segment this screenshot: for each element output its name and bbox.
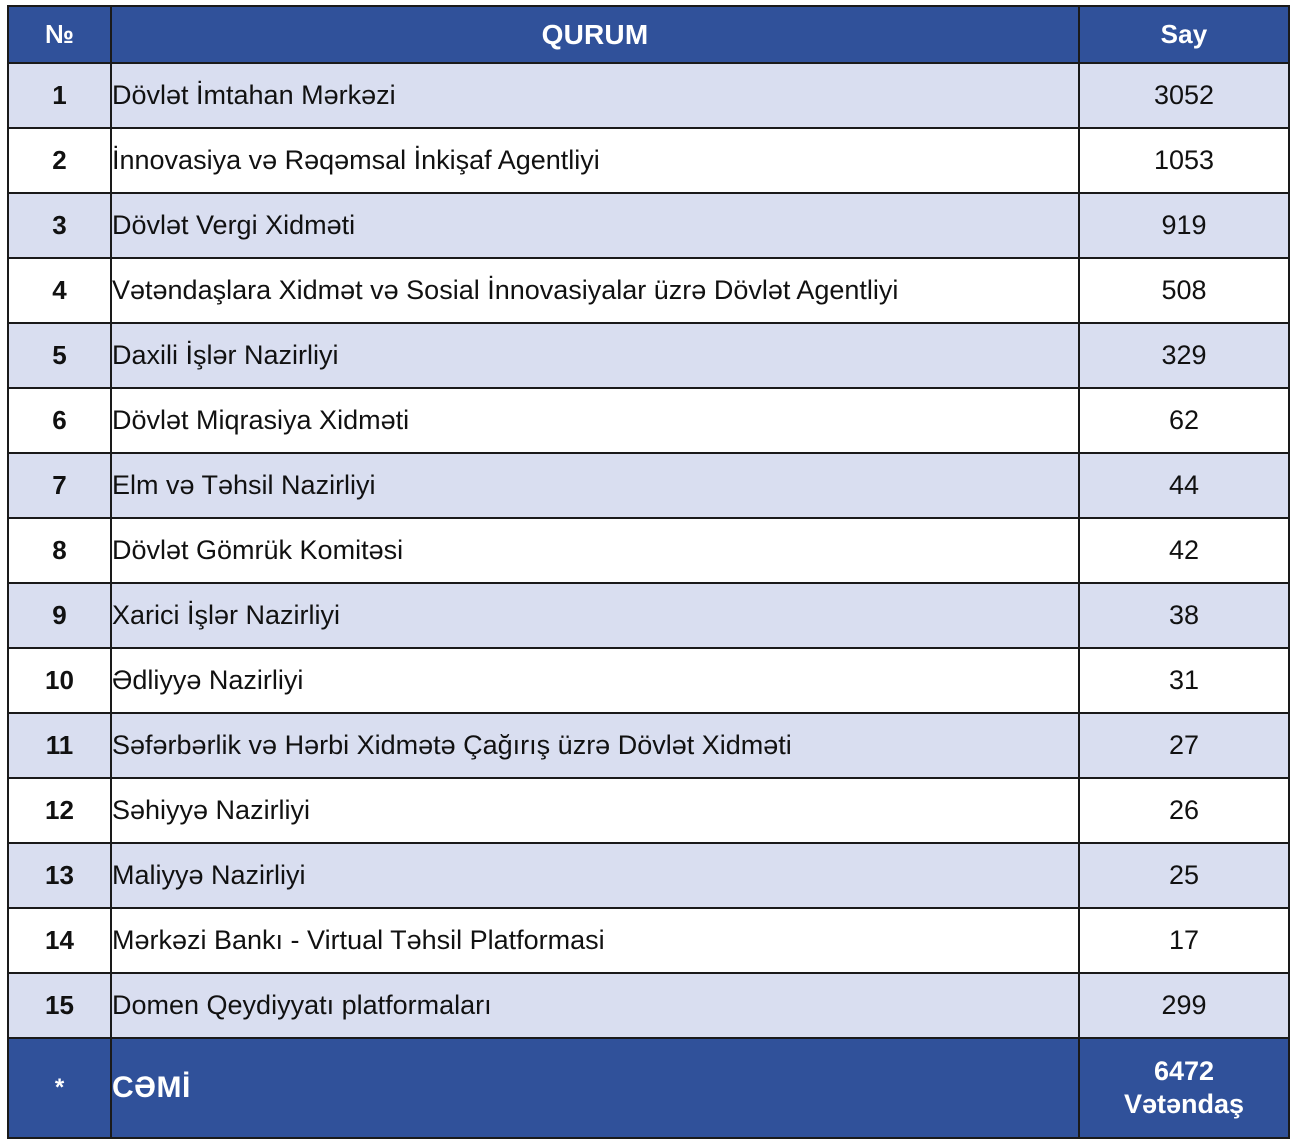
cell-institution-name: Səfərbərlik və Hərbi Xidmətə Çağırış üzr… [111, 713, 1079, 778]
cell-row-number: 12 [8, 778, 111, 843]
cell-count: 62 [1079, 388, 1289, 453]
total-value-number: 6472 [1080, 1055, 1288, 1088]
cell-row-number: 1 [8, 63, 111, 128]
cell-count: 3052 [1079, 63, 1289, 128]
cell-institution-name: Dövlət Miqrasiya Xidməti [111, 388, 1079, 453]
table-row: 12Səhiyyə Nazirliyi26 [8, 778, 1289, 843]
table-screenshot-root: № QURUM Say 1Dövlət İmtahan Mərkəzi30522… [0, 0, 1300, 1143]
cell-count: 38 [1079, 583, 1289, 648]
table-row: 6Dövlət Miqrasiya Xidməti62 [8, 388, 1289, 453]
cell-count: 27 [1079, 713, 1289, 778]
cell-institution-name: Ədliyyə Nazirliyi [111, 648, 1079, 713]
cell-count: 31 [1079, 648, 1289, 713]
cell-count: 17 [1079, 908, 1289, 973]
cell-count: 25 [1079, 843, 1289, 908]
cell-row-number: 4 [8, 258, 111, 323]
cell-institution-name: Domen Qeydiyyatı platformaları [111, 973, 1079, 1038]
table-header: № QURUM Say [8, 6, 1289, 63]
cell-row-number: 3 [8, 193, 111, 258]
cell-institution-name: Dövlət Vergi Xidməti [111, 193, 1079, 258]
table-row: 2İnnovasiya və Rəqəmsal İnkişaf Agentliy… [8, 128, 1289, 193]
table-row: 9Xarici İşlər Nazirliyi38 [8, 583, 1289, 648]
cell-row-number: 13 [8, 843, 111, 908]
table-row: 11Səfərbərlik və Hərbi Xidmətə Çağırış ü… [8, 713, 1289, 778]
cell-institution-name: Dövlət İmtahan Mərkəzi [111, 63, 1079, 128]
total-value-unit: Vətəndaş [1080, 1088, 1288, 1121]
cell-institution-name: Dövlət Gömrük Komitəsi [111, 518, 1079, 583]
cell-count: 44 [1079, 453, 1289, 518]
table-row: 3Dövlət Vergi Xidməti919 [8, 193, 1289, 258]
header-row: № QURUM Say [8, 6, 1289, 63]
total-label: CƏMİ [111, 1038, 1079, 1138]
institutions-table: № QURUM Say 1Dövlət İmtahan Mərkəzi30522… [7, 5, 1290, 1139]
table-row: 1Dövlət İmtahan Mərkəzi3052 [8, 63, 1289, 128]
cell-row-number: 11 [8, 713, 111, 778]
table-row: 8Dövlət Gömrük Komitəsi42 [8, 518, 1289, 583]
table-row: 10Ədliyyə Nazirliyi31 [8, 648, 1289, 713]
table-row: 15Domen Qeydiyyatı platformaları299 [8, 973, 1289, 1038]
cell-row-number: 8 [8, 518, 111, 583]
cell-count: 919 [1079, 193, 1289, 258]
cell-row-number: 9 [8, 583, 111, 648]
cell-count: 1053 [1079, 128, 1289, 193]
cell-institution-name: Maliyyə Nazirliyi [111, 843, 1079, 908]
cell-row-number: 7 [8, 453, 111, 518]
cell-row-number: 14 [8, 908, 111, 973]
cell-institution-name: Vətəndaşlara Xidmət və Sosial İnnovasiya… [111, 258, 1079, 323]
table-row: 5Daxili İşlər Nazirliyi329 [8, 323, 1289, 388]
total-row: * CƏMİ 6472 Vətəndaş [8, 1038, 1289, 1138]
cell-count: 508 [1079, 258, 1289, 323]
column-header-qurum: QURUM [111, 6, 1079, 63]
table-row: 4Vətəndaşlara Xidmət və Sosial İnnovasiy… [8, 258, 1289, 323]
cell-count: 42 [1079, 518, 1289, 583]
table-body: 1Dövlət İmtahan Mərkəzi30522İnnovasiya v… [8, 63, 1289, 1038]
column-header-say: Say [1079, 6, 1289, 63]
cell-institution-name: Mərkəzi Bankı - Virtual Təhsil Platforma… [111, 908, 1079, 973]
cell-row-number: 15 [8, 973, 111, 1038]
cell-row-number: 10 [8, 648, 111, 713]
cell-institution-name: Xarici İşlər Nazirliyi [111, 583, 1079, 648]
cell-row-number: 6 [8, 388, 111, 453]
cell-count: 299 [1079, 973, 1289, 1038]
cell-institution-name: Daxili İşlər Nazirliyi [111, 323, 1079, 388]
cell-institution-name: Səhiyyə Nazirliyi [111, 778, 1079, 843]
cell-institution-name: İnnovasiya və Rəqəmsal İnkişaf Agentliyi [111, 128, 1079, 193]
cell-count: 26 [1079, 778, 1289, 843]
table-row: 14Mərkəzi Bankı - Virtual Təhsil Platfor… [8, 908, 1289, 973]
table-row: 7Elm və Təhsil Nazirliyi44 [8, 453, 1289, 518]
total-value: 6472 Vətəndaş [1079, 1038, 1289, 1138]
cell-row-number: 2 [8, 128, 111, 193]
cell-count: 329 [1079, 323, 1289, 388]
table-footer: * CƏMİ 6472 Vətəndaş [8, 1038, 1289, 1138]
cell-institution-name: Elm və Təhsil Nazirliyi [111, 453, 1079, 518]
total-marker: * [8, 1038, 111, 1138]
cell-row-number: 5 [8, 323, 111, 388]
column-header-no: № [8, 6, 111, 63]
table-row: 13Maliyyə Nazirliyi25 [8, 843, 1289, 908]
